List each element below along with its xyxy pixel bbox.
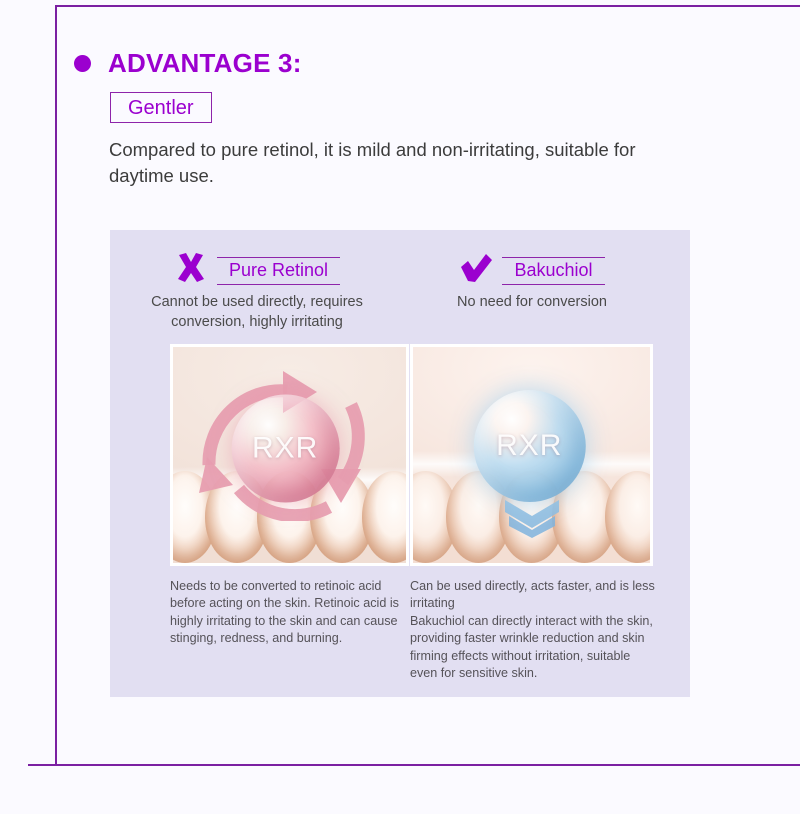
pure-retinol-label-box: Pure Retinol xyxy=(217,257,340,285)
retinol-molecule-sphere: RXR xyxy=(231,395,339,503)
page-title: ADVANTAGE 3: xyxy=(108,48,302,79)
lead-paragraph: Compared to pure retinol, it is mild and… xyxy=(109,137,669,190)
bakuchiol-molecule-sphere: RXR xyxy=(473,390,585,502)
advantage-tag-label: Gentler xyxy=(128,98,194,118)
bakuchiol-subtitle: No need for conversion xyxy=(392,292,672,312)
pure-retinol-caption: Needs to be converted to retinoic acid b… xyxy=(170,578,410,648)
pure-retinol-header: Pure Retinol xyxy=(128,252,386,289)
check-mark-icon xyxy=(459,252,493,289)
bakuchiol-label: Bakuchiol xyxy=(514,260,592,280)
advantage-tag-badge: Gentler xyxy=(110,92,212,123)
pure-retinol-illustration: RXR xyxy=(173,347,406,563)
sphere-label: RXR xyxy=(252,432,318,466)
bakuchiol-caption-line-1: Can be used directly, acts faster, and i… xyxy=(410,578,658,613)
cross-x-icon xyxy=(174,252,208,289)
bakuchiol-caption-line-2: Bakuchiol can directly interact with the… xyxy=(410,613,658,683)
comparison-column-pure-retinol: Pure Retinol Cannot be used directly, re… xyxy=(128,230,386,697)
skin-cell xyxy=(605,471,650,563)
bullet-dot-icon xyxy=(74,55,91,72)
downward-chevron-arrows-icon xyxy=(501,498,563,545)
bakuchiol-caption: Can be used directly, acts faster, and i… xyxy=(410,578,658,682)
top-rule-divider xyxy=(55,5,800,7)
bakuchiol-header: Bakuchiol xyxy=(392,252,672,289)
product-advantage-page: ADVANTAGE 3: Gentler Compared to pure re… xyxy=(0,0,800,814)
left-vertical-rule xyxy=(55,5,57,766)
comparison-column-bakuchiol: Bakuchiol No need for conversion xyxy=(392,230,672,697)
pure-retinol-illustration-frame: RXR xyxy=(170,344,409,566)
bakuchiol-illustration-frame: RXR xyxy=(410,344,653,566)
pure-retinol-label: Pure Retinol xyxy=(229,260,328,280)
bakuchiol-illustration: RXR xyxy=(413,347,650,563)
comparison-panel: Pure Retinol Cannot be used directly, re… xyxy=(110,230,690,697)
bakuchiol-label-box: Bakuchiol xyxy=(502,257,604,285)
bottom-rule-divider xyxy=(28,764,800,766)
pure-retinol-subtitle: Cannot be used directly, requires conver… xyxy=(128,292,386,332)
sphere-label: RXR xyxy=(496,429,562,463)
